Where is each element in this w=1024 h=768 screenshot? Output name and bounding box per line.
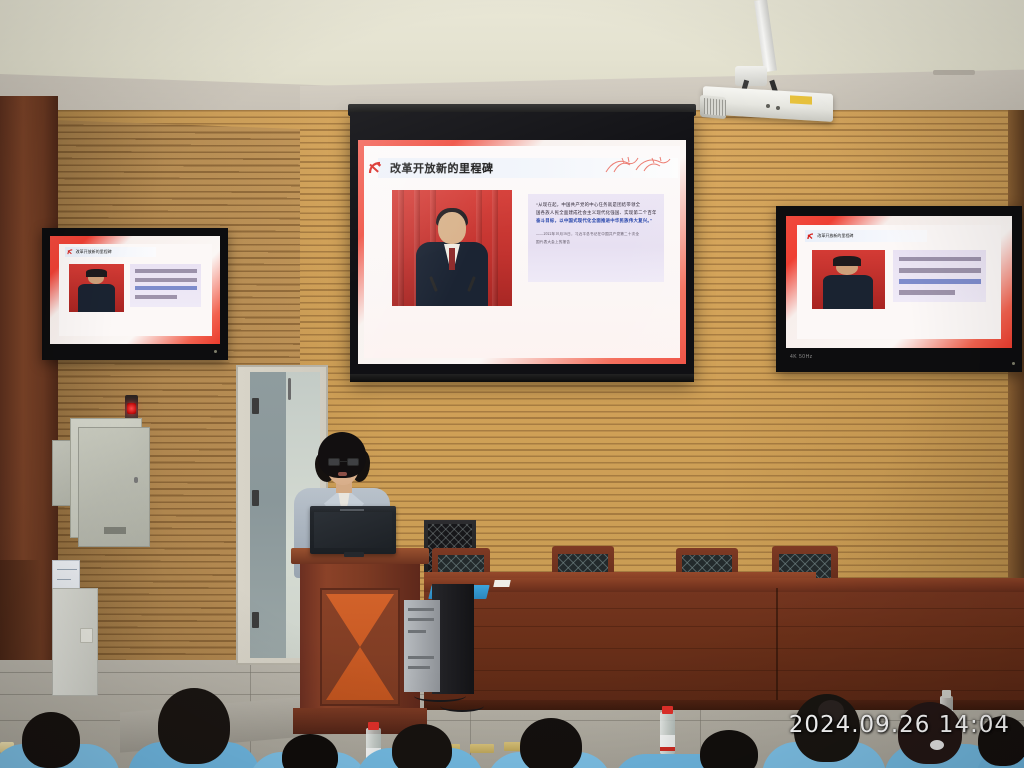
desktop-computer-tower bbox=[404, 600, 440, 692]
conference-room-photo: 改革开放新的里程碑 bbox=[0, 0, 1024, 768]
right-monitor-power-led bbox=[1012, 362, 1015, 365]
quote-attribution-line-1: ——2022年10月16日，习近平总书记在中国共产党第二十次全 bbox=[536, 231, 656, 238]
slide-content-area: 改革开放新的里程碑 bbox=[364, 146, 680, 358]
left-wall-monitor[interactable]: 改革开放新的里程碑 bbox=[42, 228, 228, 360]
ceiling-vent bbox=[933, 70, 975, 75]
left-monitor-photo bbox=[69, 264, 124, 312]
slide-quote-box: “从现在起，中国共产党的中心任务就是团结带领全 国各族人民全面建成社会主义现代化… bbox=[528, 194, 664, 282]
right-monitor-slide-title: 改革开放新的里程碑 bbox=[805, 230, 927, 242]
projector-vent-grille bbox=[704, 98, 726, 116]
lectern-display-stand bbox=[344, 552, 364, 557]
right-monitor-photo bbox=[812, 250, 885, 309]
projector-label-sticker bbox=[790, 95, 812, 104]
wall-power-outlet[interactable] bbox=[80, 628, 93, 643]
electrical-panel-label bbox=[104, 527, 126, 534]
projector-mount-bracket bbox=[735, 66, 767, 86]
left-monitor-quote bbox=[130, 264, 200, 307]
right-wall-monitor[interactable]: 改革开放新的里程碑 4K 50Hz bbox=[776, 206, 1022, 372]
name-card-2[interactable] bbox=[470, 744, 494, 753]
door-hinge-mid bbox=[252, 490, 259, 506]
door-hinge-top bbox=[252, 398, 259, 414]
projection-screen-bottom-bar bbox=[350, 374, 694, 382]
quote-line-2: 国各族人民全面建成社会主义现代化强国、实现第二个百年 bbox=[536, 209, 656, 217]
left-monitor-screen: 改革开放新的里程碑 bbox=[50, 236, 220, 344]
slide-corner-ornament-icon bbox=[602, 154, 672, 176]
lectern-display-brand-mark bbox=[340, 509, 364, 511]
slide-title-text: 改革开放新的里程碑 bbox=[390, 160, 494, 176]
electrical-panel-latch[interactable] bbox=[134, 477, 138, 483]
right-monitor-osd-label: 4K 50Hz bbox=[790, 354, 813, 360]
head-table-front-panel bbox=[424, 592, 1024, 706]
water-bottle-2[interactable] bbox=[660, 706, 675, 754]
projected-slide: 改革开放新的里程碑 bbox=[358, 140, 686, 364]
right-monitor-screen: 改革开放新的里程碑 bbox=[786, 216, 1012, 348]
left-monitor-power-led bbox=[214, 350, 217, 353]
left-monitor-slide-title: 改革开放新的里程碑 bbox=[65, 247, 157, 257]
eyeglasses-icon bbox=[328, 458, 359, 466]
door-hinge-bottom bbox=[252, 612, 259, 628]
floor-cable-2 bbox=[440, 700, 484, 712]
paper-sheet[interactable] bbox=[493, 580, 510, 587]
projector-indicator-1 bbox=[766, 104, 770, 108]
head-table-seam bbox=[776, 588, 778, 706]
quote-line-3: 奋斗目标，以中国式现代化全面推进中华民族伟大复兴。” bbox=[536, 217, 656, 225]
quote-line-1: “从现在起，中国共产党的中心任务就是团结带领全 bbox=[536, 201, 656, 209]
camera-timestamp: 2024.09.26 14:04 bbox=[789, 712, 1010, 738]
projector-indicator-2 bbox=[776, 106, 780, 110]
door-handle[interactable] bbox=[288, 378, 291, 400]
quote-attribution-line-2: 国代表大会上的报告 bbox=[536, 239, 656, 246]
presenter-mouth bbox=[338, 472, 347, 476]
right-monitor-quote bbox=[893, 250, 987, 302]
slide-embedded-photo bbox=[392, 190, 512, 306]
cpc-hammer-sickle-icon bbox=[368, 161, 384, 175]
lectern-display-screen bbox=[314, 512, 392, 548]
